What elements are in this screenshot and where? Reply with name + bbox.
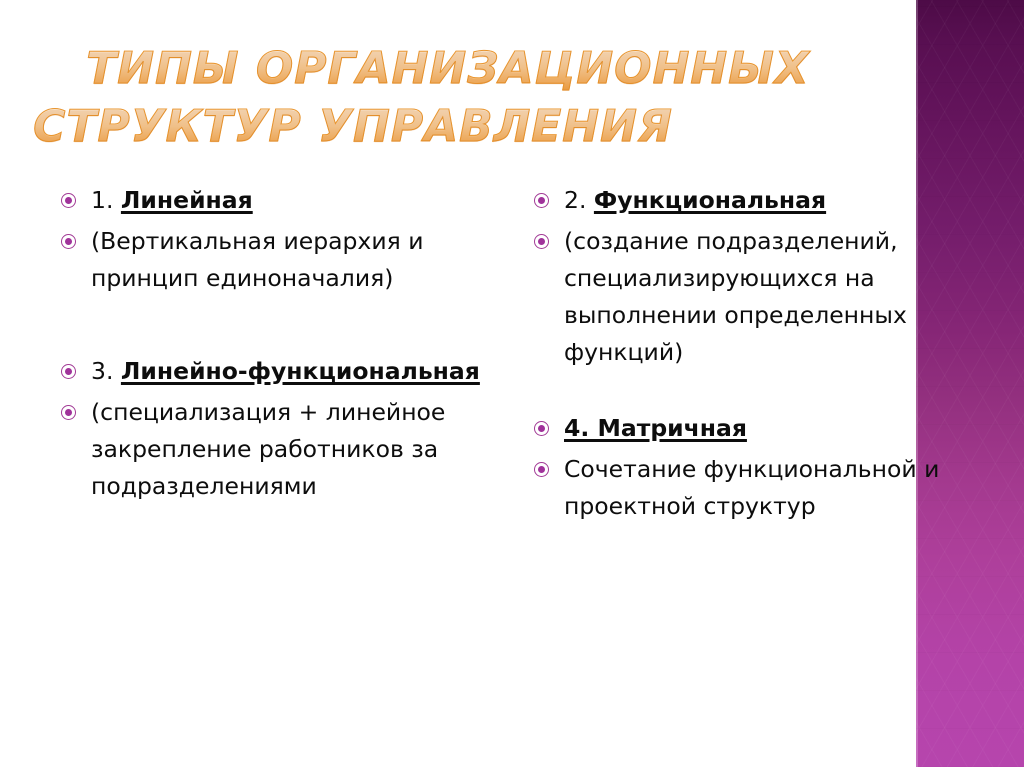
list-item-heading: 4. Матричная [531,410,981,447]
content-column-left: 1. Линейная (Вертикальная иерархия и при… [58,182,498,509]
fisheye-bullet-icon [61,405,76,420]
item-description: Сочетание функциональной и проектной стр… [564,455,939,520]
item-term: Функциональная [594,186,826,214]
slide: Типы организационных структур управления… [0,0,1024,767]
item-term: Линейная [121,186,253,214]
fisheye-bullet-icon [61,364,76,379]
item-description: (создание подразделений, специализирующи… [564,227,907,366]
item-description: (Вертикальная иерархия и принцип единона… [91,227,424,292]
item-term: Линейно-функциональная [121,357,480,385]
item-number: 2. [564,186,594,214]
item-number: 3. [91,357,121,385]
structure-item-3: 3. Линейно-функциональная (специализация… [58,353,498,505]
fisheye-bullet-icon [534,421,549,436]
list-item-heading: 2. Функциональная [531,182,981,219]
list-item-heading: 1. Линейная [58,182,498,219]
title-line-1: Типы организационных [0,40,906,98]
fisheye-bullet-icon [61,193,76,208]
structure-item-4: 4. Матричная Сочетание функциональной и … [531,410,981,525]
slide-title: Типы организационных структур управления [0,40,916,165]
list-item-heading: 3. Линейно-функциональная [58,353,498,390]
structure-item-2: 2. Функциональная (создание подразделени… [531,182,981,371]
title-line-2: структур управления [0,98,811,156]
content-column-right: 2. Функциональная (создание подразделени… [531,182,981,529]
item-description: (специализация + линейное закрепление ра… [91,398,445,500]
fisheye-bullet-icon [534,193,549,208]
fisheye-bullet-icon [534,234,549,249]
list-item-body: (создание подразделений, специализирующи… [531,223,981,371]
list-item-body: (Вертикальная иерархия и принцип единона… [58,223,498,297]
list-item-body: Сочетание функциональной и проектной стр… [531,451,981,525]
fisheye-bullet-icon [61,234,76,249]
item-term: 4. Матричная [564,414,747,442]
fisheye-bullet-icon [534,462,549,477]
structure-item-1: 1. Линейная (Вертикальная иерархия и при… [58,182,498,297]
item-number: 1. [91,186,121,214]
list-item-body: (специализация + линейное закрепление ра… [58,394,498,505]
